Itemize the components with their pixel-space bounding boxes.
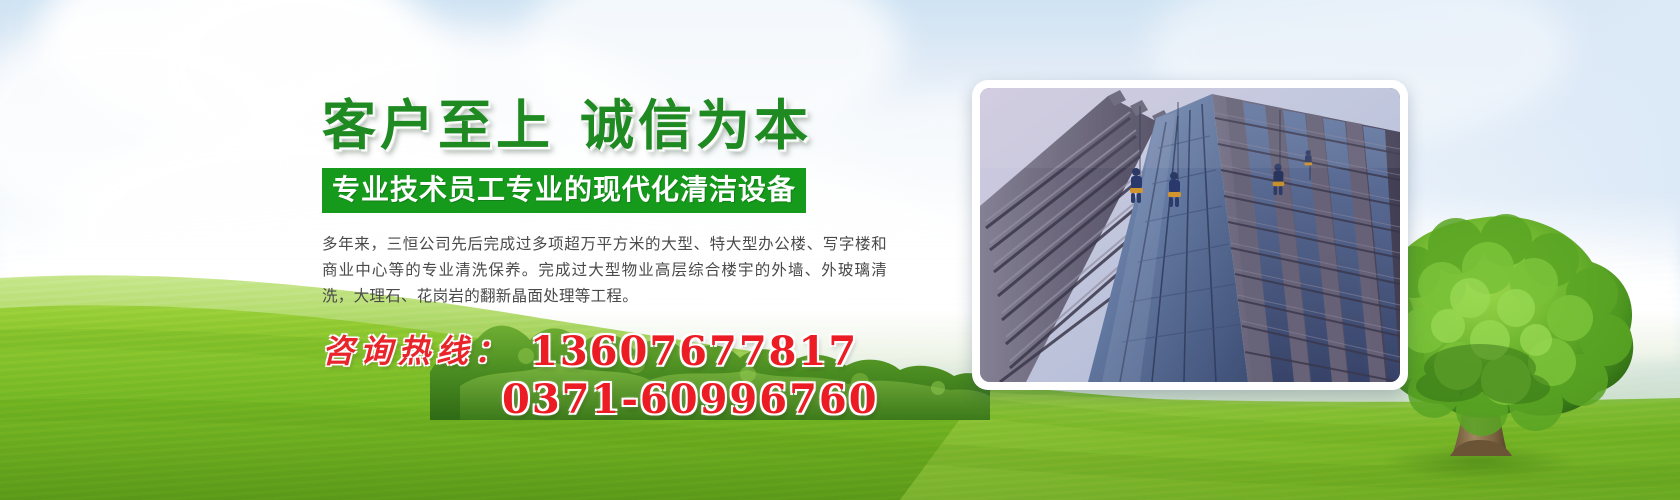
- description-paragraph: 多年来，三恒公司先后完成过多项超万平方米的大型、特大型办公楼、写字楼和商业中心等…: [322, 231, 887, 309]
- hotline-second-line: 0371-60996760: [322, 379, 902, 421]
- page-title: 客户至上诚信为本: [322, 98, 902, 152]
- hotline-block: 咨询热线：13607677817 0371-60996760: [322, 331, 902, 421]
- hotline-landline-number[interactable]: 0371-60996760: [502, 376, 879, 423]
- building-photo-card[interactable]: [972, 80, 1408, 390]
- high-rise-building-facade-cleaning-photo: [980, 88, 1400, 382]
- building-photo-frame: [980, 88, 1400, 382]
- hotline-mobile-number[interactable]: 13607677817: [530, 328, 858, 375]
- banner-copy-block: 客户至上诚信为本 专业技术员工专业的现代化清洁设备 多年来，三恒公司先后完成过多…: [322, 98, 902, 421]
- hotline-label: 咨询热线：: [322, 332, 512, 370]
- promotional-banner: 客户至上诚信为本 专业技术员工专业的现代化清洁设备 多年来，三恒公司先后完成过多…: [0, 0, 1680, 500]
- headline-part-1: 客户至上: [322, 93, 554, 157]
- headline-part-2: 诚信为本: [580, 93, 812, 157]
- subtitle-bar: 专业技术员工专业的现代化清洁设备: [322, 168, 806, 213]
